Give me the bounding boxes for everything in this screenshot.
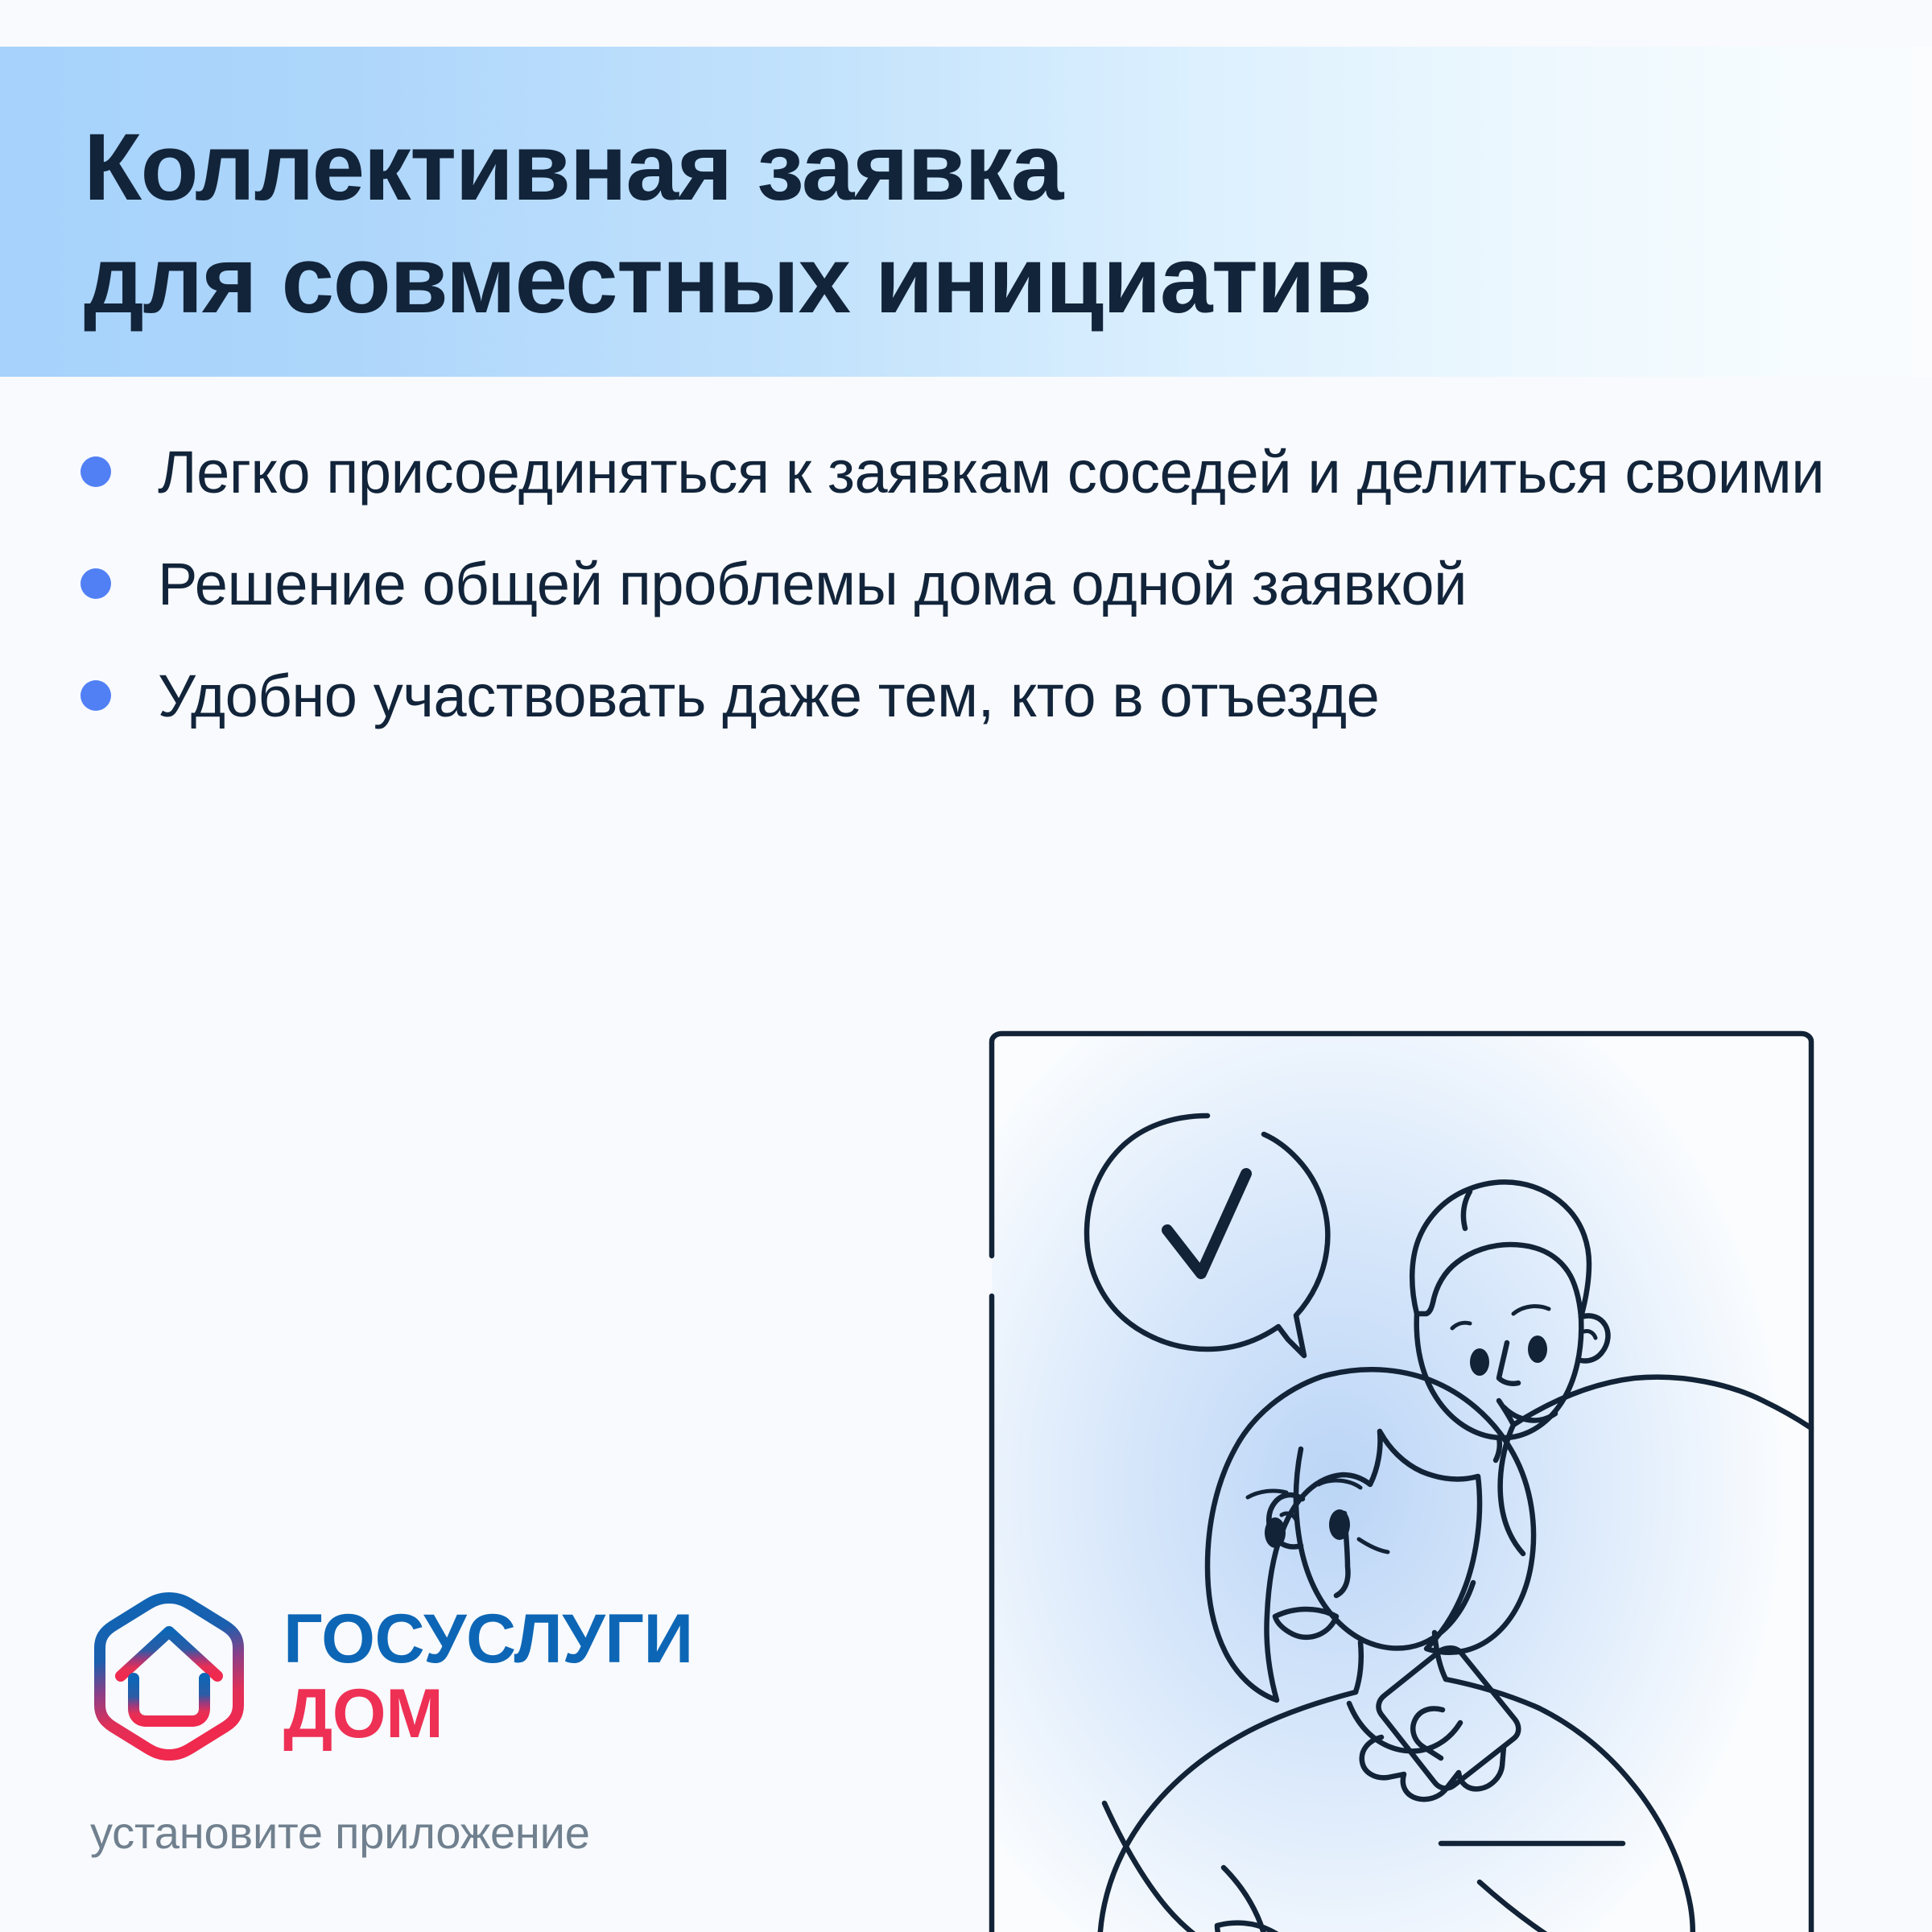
- list-item-label: Решение общей проблемы дома одной заявко…: [158, 547, 1868, 621]
- list-item-label: Удобно участвовать даже тем, кто в отъез…: [158, 658, 1868, 733]
- bullet-dot-icon: [80, 680, 111, 711]
- brand-logo-block: ГОСУСЛУГИ ДОМ установите приложение: [89, 1590, 693, 1859]
- benefits-list: Легко присоединяться к заявкам соседей и…: [80, 435, 1868, 771]
- woman-eye-left: [1265, 1517, 1286, 1548]
- page-title: Коллективная заявка для совместных иници…: [84, 111, 1774, 337]
- bullet-dot-icon: [80, 456, 111, 487]
- header-banner: Коллективная заявка для совместных иници…: [0, 47, 1932, 377]
- gosuslugi-dom-house-hexagon-icon: [89, 1590, 250, 1763]
- two-people-with-smartphone-illustration: [805, 998, 1932, 1932]
- man-eye-left: [1470, 1348, 1489, 1376]
- logo-row: ГОСУСЛУГИ ДОМ: [89, 1590, 693, 1763]
- bullet-dot-icon: [80, 568, 111, 599]
- install-app-caption: установите приложение: [90, 1806, 693, 1859]
- logo-wordmark: ГОСУСЛУГИ ДОМ: [283, 1605, 693, 1748]
- list-item: Легко присоединяться к заявкам соседей и…: [80, 435, 1868, 510]
- list-item: Удобно участвовать даже тем, кто в отъез…: [80, 658, 1868, 733]
- list-item: Решение общей проблемы дома одной заявко…: [80, 547, 1868, 621]
- window-frame-fill: [992, 1034, 1811, 1932]
- man-eye-right: [1528, 1335, 1547, 1363]
- logo-primary-text: ГОСУСЛУГИ: [283, 1605, 693, 1673]
- list-item-label: Легко присоединяться к заявкам соседей и…: [158, 435, 1868, 510]
- logo-secondary-text: ДОМ: [283, 1680, 693, 1748]
